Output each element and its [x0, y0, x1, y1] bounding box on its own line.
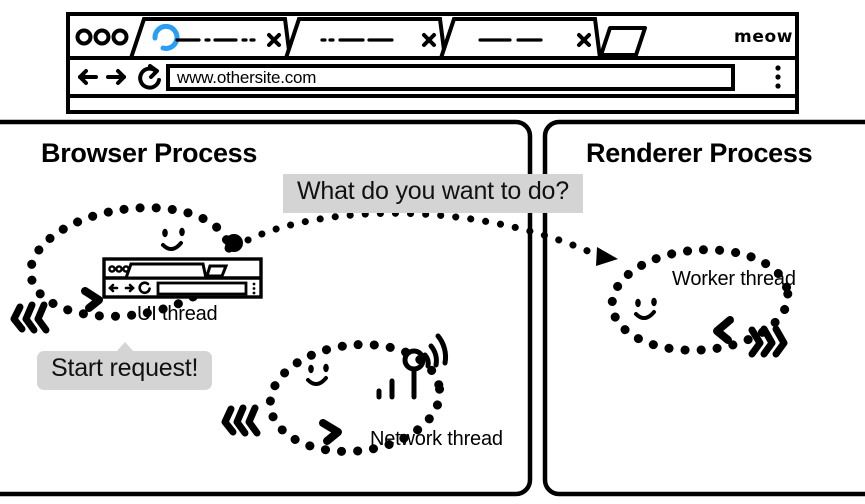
new-tab-button[interactable] — [601, 28, 645, 55]
callout-start-request: Start request! — [37, 351, 212, 390]
worker-thread-motion-lines — [752, 329, 784, 354]
tab-3[interactable] — [441, 19, 600, 58]
browser-process-title: Browser Process — [41, 138, 257, 169]
worker-thread-label: Worker thread — [672, 268, 796, 291]
browser-brand-label: meow — [734, 27, 793, 47]
renderer-process-title: Renderer Process — [586, 138, 812, 169]
ui-thread-face-icon — [162, 228, 185, 249]
network-thread-face-icon — [308, 364, 329, 384]
address-bar-value[interactable]: www.othersite.com — [177, 68, 316, 88]
illustration-canvas: meow www.othersite.com Browser Process R… — [0, 0, 865, 504]
window-control-dots[interactable] — [78, 31, 127, 44]
network-thread-motion-lines — [225, 408, 257, 433]
callout-start-request-text: Start request! — [51, 354, 198, 382]
browser-menu-icon[interactable] — [775, 65, 780, 88]
message-arrow-ui-to-renderer — [225, 213, 618, 266]
worker-thread-face-icon — [635, 298, 657, 318]
callout-what-do-you-want: What do you want to do? — [283, 174, 583, 213]
tab-2[interactable] — [286, 19, 445, 58]
renderer-process-panel — [545, 122, 865, 494]
ui-thread-browser-icon — [104, 259, 261, 297]
worker-thread-figure — [609, 244, 792, 356]
network-thread-label: Network thread — [370, 428, 503, 451]
tab-1[interactable] — [131, 19, 290, 58]
ui-thread-label: UI thread — [137, 303, 217, 326]
ui-thread-motion-lines — [14, 305, 46, 330]
callout-nub — [116, 342, 134, 352]
